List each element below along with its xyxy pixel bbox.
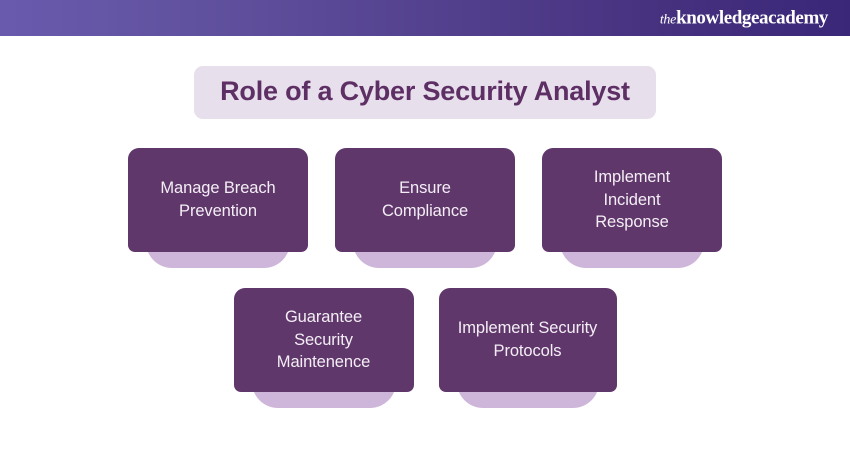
- card-label: Manage Breach Prevention: [160, 177, 275, 223]
- role-diagram: Manage Breach Prevention Ensure Complian…: [0, 148, 850, 392]
- card-body: Ensure Compliance: [335, 148, 515, 252]
- page-title: Role of a Cyber Security Analyst: [194, 66, 656, 119]
- card-row-1: Manage Breach Prevention Ensure Complian…: [0, 148, 850, 252]
- brand-logo-the: the: [660, 13, 676, 28]
- role-card[interactable]: Manage Breach Prevention: [128, 148, 308, 252]
- title-container: Role of a Cyber Security Analyst: [0, 66, 850, 119]
- header-band: theknowledgeacademy: [0, 0, 850, 36]
- card-label: Ensure Compliance: [382, 177, 468, 223]
- card-body: Implement Incident Response: [542, 148, 722, 252]
- role-card[interactable]: Ensure Compliance: [335, 148, 515, 252]
- card-row-2: Guarantee Security Maintenence Implement…: [0, 288, 850, 392]
- card-body: Manage Breach Prevention: [128, 148, 308, 252]
- role-card[interactable]: Implement Incident Response: [542, 148, 722, 252]
- card-label: Implement Incident Response: [594, 166, 670, 234]
- card-label: Implement Security Protocols: [458, 317, 597, 363]
- card-label: Guarantee Security Maintenence: [277, 306, 370, 374]
- role-card[interactable]: Guarantee Security Maintenence: [234, 288, 414, 392]
- card-body: Guarantee Security Maintenence: [234, 288, 414, 392]
- brand-logo: theknowledgeacademy: [660, 9, 828, 28]
- brand-logo-name: knowledgeacademy: [676, 8, 828, 29]
- role-card[interactable]: Implement Security Protocols: [439, 288, 617, 392]
- card-body: Implement Security Protocols: [439, 288, 617, 392]
